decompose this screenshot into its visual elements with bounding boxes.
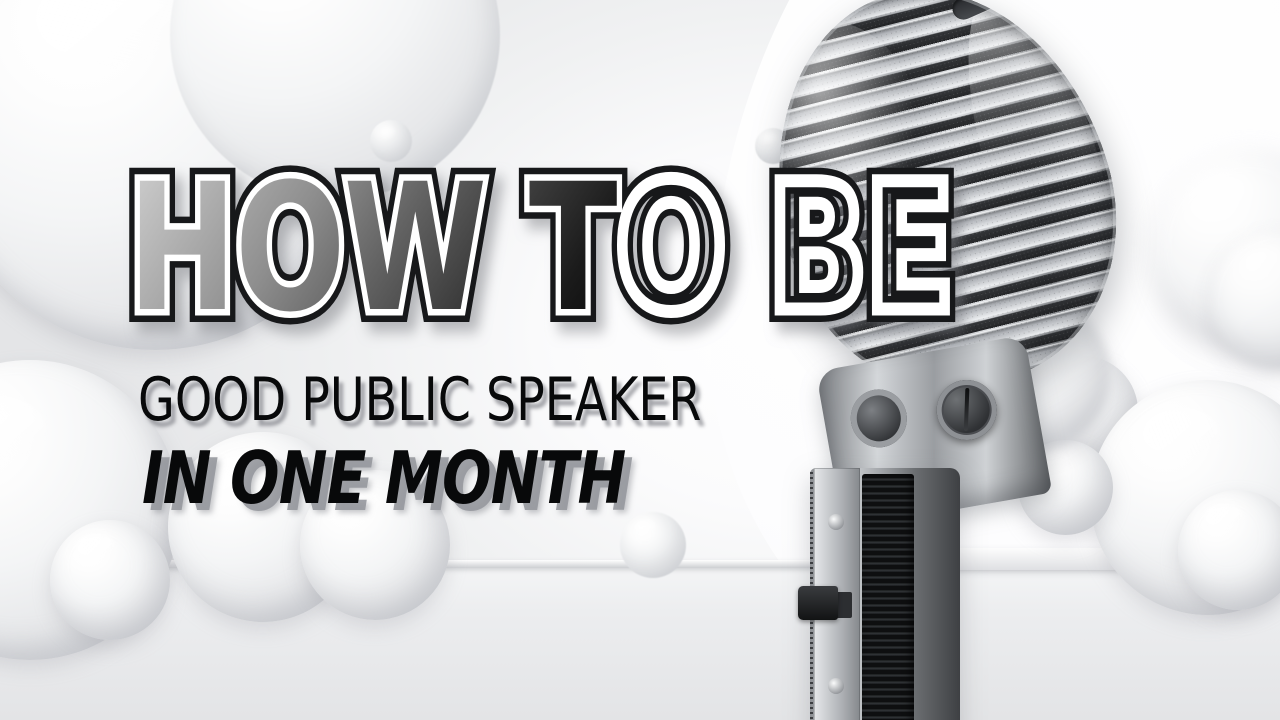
subheadline-one: GOOD PUBLIC SPEAKER (138, 370, 657, 430)
title-text-block: HOW TO BE HOW TO BE HOW TO BE GOOD PUBLI… (128, 168, 728, 514)
thumbnail-canvas: HOW TO BE HOW TO BE HOW TO BE GOOD PUBLI… (0, 0, 1280, 720)
headline-text: HOW TO BE (128, 168, 620, 330)
headline-wrap: HOW TO BE HOW TO BE HOW TO BE (128, 168, 728, 344)
microphone-rubber-grip (862, 474, 914, 720)
microphone-screw-bottom (828, 678, 844, 694)
microphone-switch-lever (798, 586, 838, 620)
microphone-tension-knob (932, 375, 1002, 445)
decor-sphere-16 (620, 512, 686, 578)
decor-sphere-6 (50, 520, 170, 640)
subheadline-two: IN ONE MONTH (142, 442, 669, 514)
microphone-hinge (846, 385, 911, 452)
microphone-body-stand (810, 468, 960, 720)
microphone-screw-top (828, 514, 844, 530)
microphone-illustration (700, 0, 1220, 720)
